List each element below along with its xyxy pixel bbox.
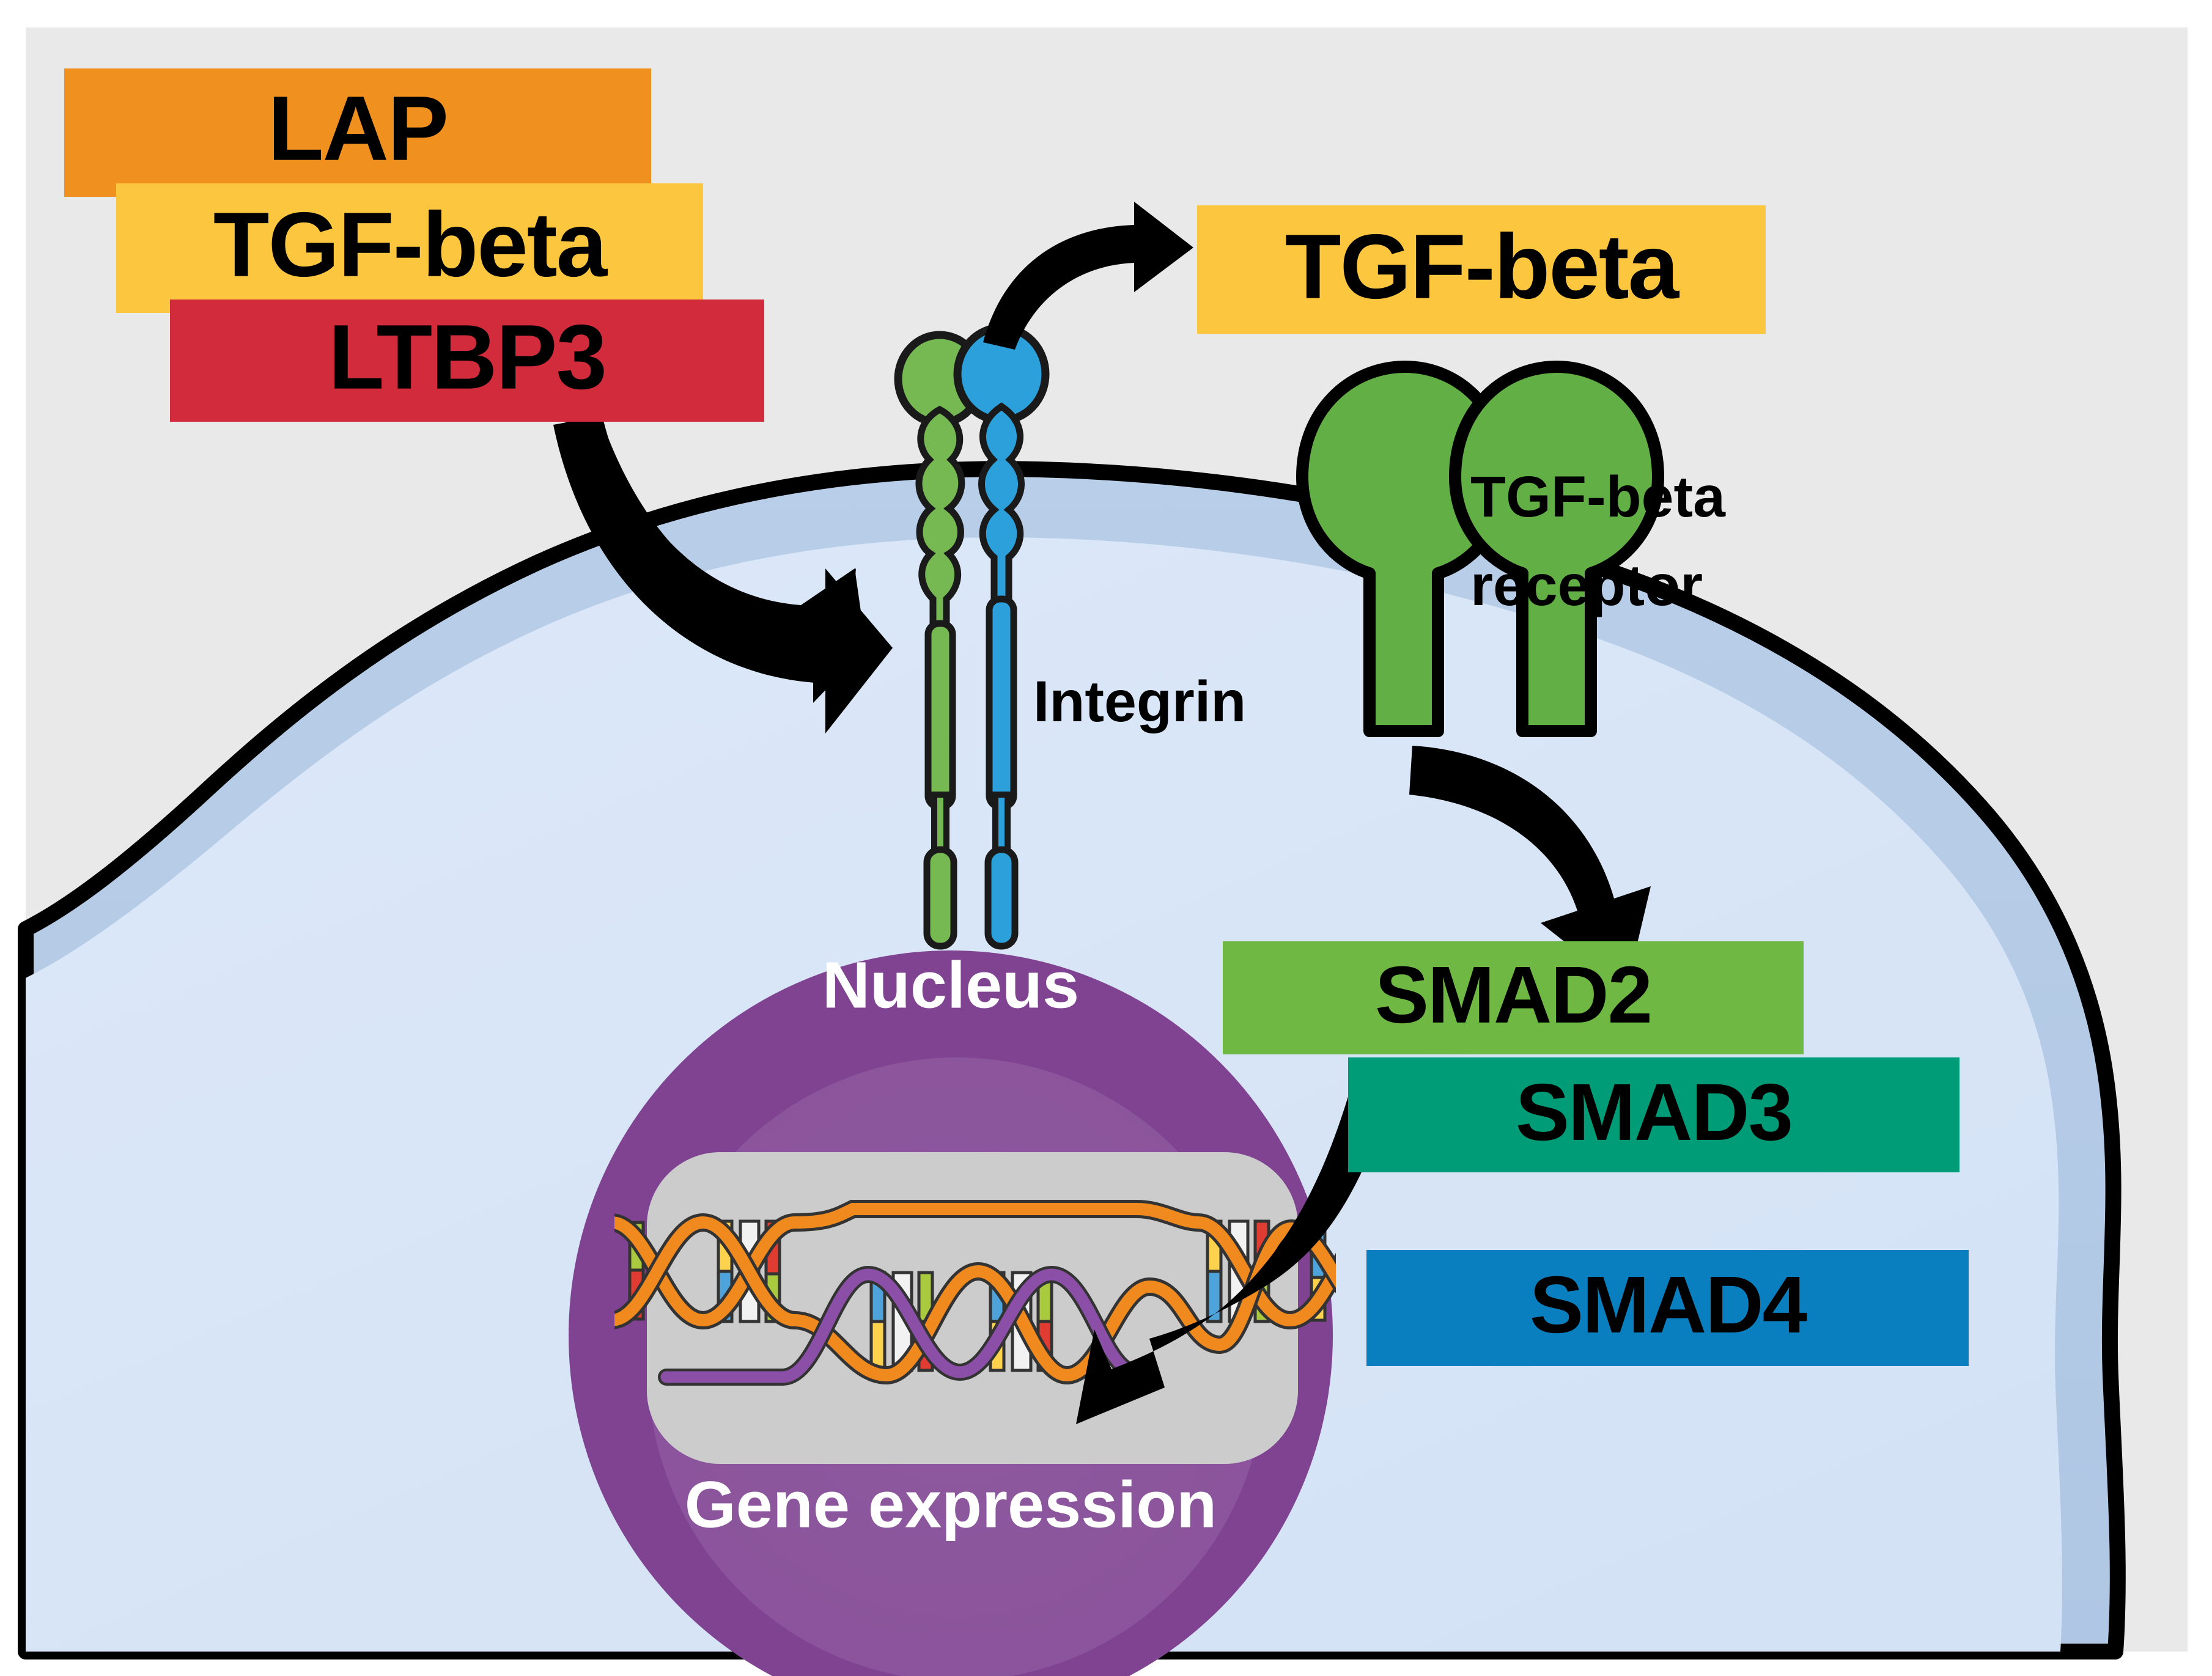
smad3-box-label: SMAD3 [1516, 1067, 1792, 1157]
tgfbeta-released-box-label: TGF-beta [1285, 215, 1680, 318]
gene-expression-label: Gene expression [685, 1468, 1217, 1542]
integrin-label: Integrin [1033, 669, 1246, 734]
pathway-canvas: Nucleus Gene expression Integrin [0, 0, 2212, 1676]
ltbp3-box-label: LTBP3 [328, 306, 606, 408]
smad4-box-label: SMAD4 [1530, 1260, 1807, 1350]
tgf-beta-pathway-figure: Nucleus Gene expression Integrin [0, 0, 2212, 1676]
receptor-label-line1: TGF-beta [1470, 465, 1726, 529]
nucleus-label: Nucleus [822, 948, 1079, 1022]
smad2-box-label: SMAD2 [1375, 950, 1651, 1040]
tgfbeta-latent-box-label: TGF-beta [213, 193, 608, 296]
lap-box-label: LAP [268, 77, 448, 180]
receptor-label-line2: receptor [1470, 553, 1703, 618]
